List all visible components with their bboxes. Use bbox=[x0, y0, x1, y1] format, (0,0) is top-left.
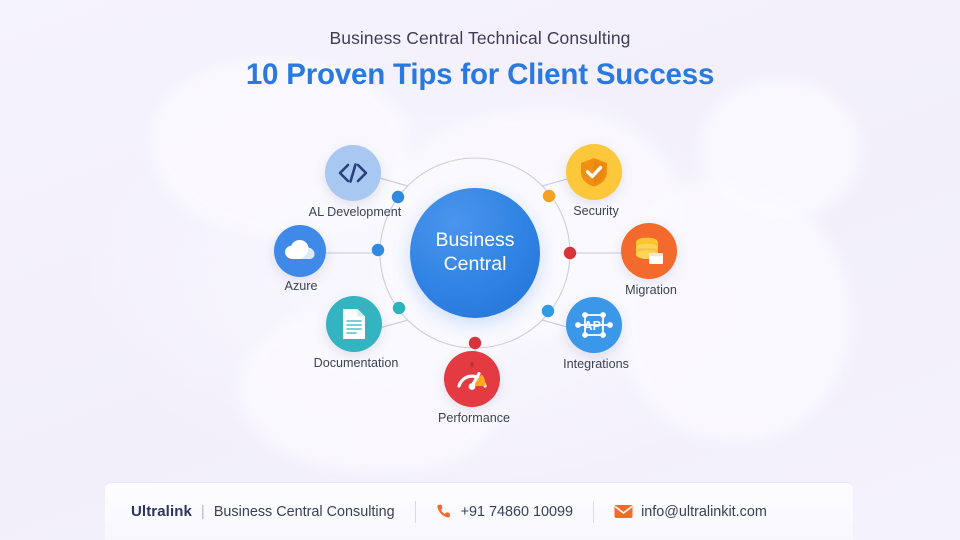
background-watermark bbox=[700, 80, 860, 220]
hub-label-line2: Central bbox=[444, 253, 507, 277]
performance-label: Performance bbox=[389, 411, 559, 425]
al-development-bubble[interactable] bbox=[325, 145, 381, 201]
shield-check-icon bbox=[578, 155, 610, 189]
documentation-label: Documentation bbox=[271, 356, 441, 370]
footer-phone[interactable]: +91 74860 10099 bbox=[436, 503, 573, 520]
code-icon bbox=[337, 162, 369, 184]
documentation-bubble[interactable] bbox=[326, 296, 382, 352]
slide-canvas: Business Central Technical Consulting 10… bbox=[0, 0, 960, 540]
footer-email-text: info@ultralinkit.com bbox=[641, 504, 767, 520]
footer-tagline: Business Central Consulting bbox=[214, 504, 395, 520]
database-icon bbox=[631, 233, 667, 269]
security-bubble[interactable] bbox=[566, 144, 622, 200]
document-icon bbox=[340, 307, 368, 341]
svg-text:API: API bbox=[584, 319, 605, 333]
security-label: Security bbox=[511, 204, 681, 218]
speedometer-icon bbox=[453, 361, 491, 397]
footer-email[interactable]: info@ultralinkit.com bbox=[614, 504, 767, 520]
al-development-label: AL Development bbox=[270, 205, 440, 219]
footer-brand-separator: | bbox=[201, 503, 205, 520]
envelope-icon bbox=[614, 504, 633, 519]
azure-bubble[interactable] bbox=[274, 225, 326, 277]
footer-divider-1 bbox=[415, 501, 416, 523]
azure-label: Azure bbox=[216, 279, 386, 293]
footer-divider-2 bbox=[593, 501, 594, 523]
header: Business Central Technical Consulting 10… bbox=[0, 28, 960, 92]
footer-brand: Ultralink bbox=[131, 503, 192, 520]
phone-icon bbox=[436, 503, 453, 520]
hub-label-line1: Business bbox=[435, 229, 514, 253]
api-network-icon: API bbox=[574, 307, 614, 343]
integrations-label: Integrations bbox=[511, 357, 681, 371]
cloud-icon bbox=[283, 239, 317, 263]
background-watermark bbox=[620, 180, 850, 440]
performance-bubble[interactable] bbox=[444, 351, 500, 407]
header-subtitle: Business Central Technical Consulting bbox=[0, 28, 960, 49]
footer-phone-text: +91 74860 10099 bbox=[461, 504, 573, 520]
integrations-bubble[interactable]: API bbox=[566, 297, 622, 353]
migration-bubble[interactable] bbox=[621, 223, 677, 279]
footer-bar: Ultralink | Business Central Consulting … bbox=[105, 482, 853, 540]
migration-label: Migration bbox=[566, 283, 736, 297]
page-title: 10 Proven Tips for Client Success bbox=[0, 58, 960, 92]
